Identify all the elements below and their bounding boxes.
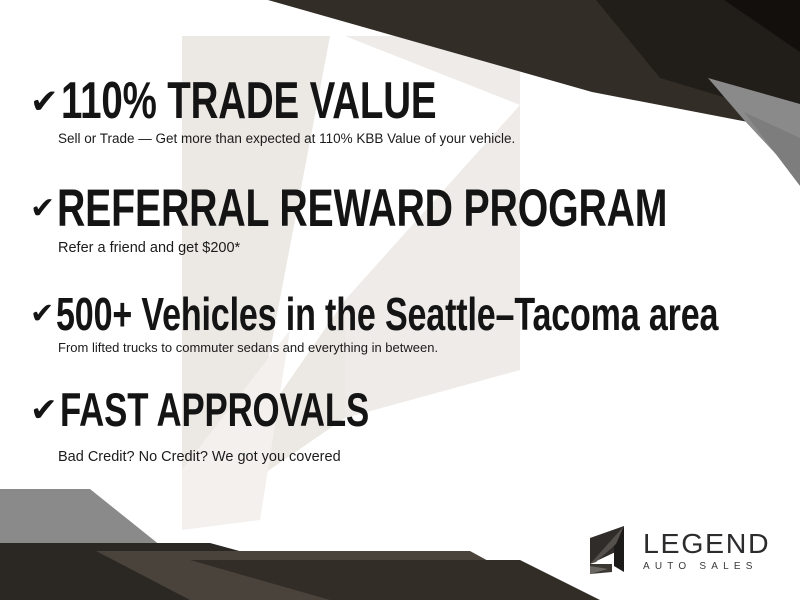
- feature-subline: Bad Credit? No Credit? We got you covere…: [58, 449, 477, 466]
- feature-headline: FAST APPROVALS: [60, 388, 369, 431]
- feature-item: ✔ REFERRAL REWARD PROGRAM Refer a friend…: [30, 185, 800, 257]
- feature-item: ✔ 500+ Vehicles in the Seattle–Tacoma ar…: [30, 293, 800, 356]
- logo-wordmark: LEGEND AUTO SALES: [643, 530, 768, 572]
- check-icon: ✔: [30, 194, 55, 224]
- feature-list: ✔ 110% TRADE VALUE Sell or Trade — Get m…: [0, 0, 800, 600]
- feature-headline: REFERRAL REWARD PROGRAM: [57, 185, 667, 234]
- check-icon: ✔: [30, 85, 59, 119]
- feature-headline-row: ✔ 500+ Vehicles in the Seattle–Tacoma ar…: [30, 293, 800, 335]
- feature-item: ✔ 110% TRADE VALUE Sell or Trade — Get m…: [30, 78, 568, 147]
- feature-headline: 110% TRADE VALUE: [61, 78, 436, 126]
- feature-subline: Sell or Trade — Get more than expected a…: [58, 131, 568, 147]
- legend-l-mark-icon: [586, 524, 634, 578]
- feature-item: ✔ FAST APPROVALS Bad Credit? No Credit? …: [30, 388, 477, 467]
- promo-poster: ✔ 110% TRADE VALUE Sell or Trade — Get m…: [0, 0, 800, 600]
- feature-headline-row: ✔ REFERRAL REWARD PROGRAM: [30, 185, 800, 234]
- logo-tagline: AUTO SALES: [643, 562, 768, 572]
- feature-headline: 500+ Vehicles in the Seattle–Tacoma area: [56, 293, 718, 335]
- check-icon: ✔: [30, 300, 54, 329]
- feature-headline-row: ✔ 110% TRADE VALUE: [30, 78, 568, 126]
- feature-subline: From lifted trucks to commuter sedans an…: [58, 340, 800, 356]
- check-icon: ✔: [30, 393, 58, 426]
- feature-subline: Refer a friend and get $200*: [58, 240, 800, 257]
- logo-name: LEGEND: [643, 530, 770, 558]
- feature-headline-row: ✔ FAST APPROVALS: [30, 388, 477, 431]
- brand-logo: LEGEND AUTO SALES: [586, 523, 768, 579]
